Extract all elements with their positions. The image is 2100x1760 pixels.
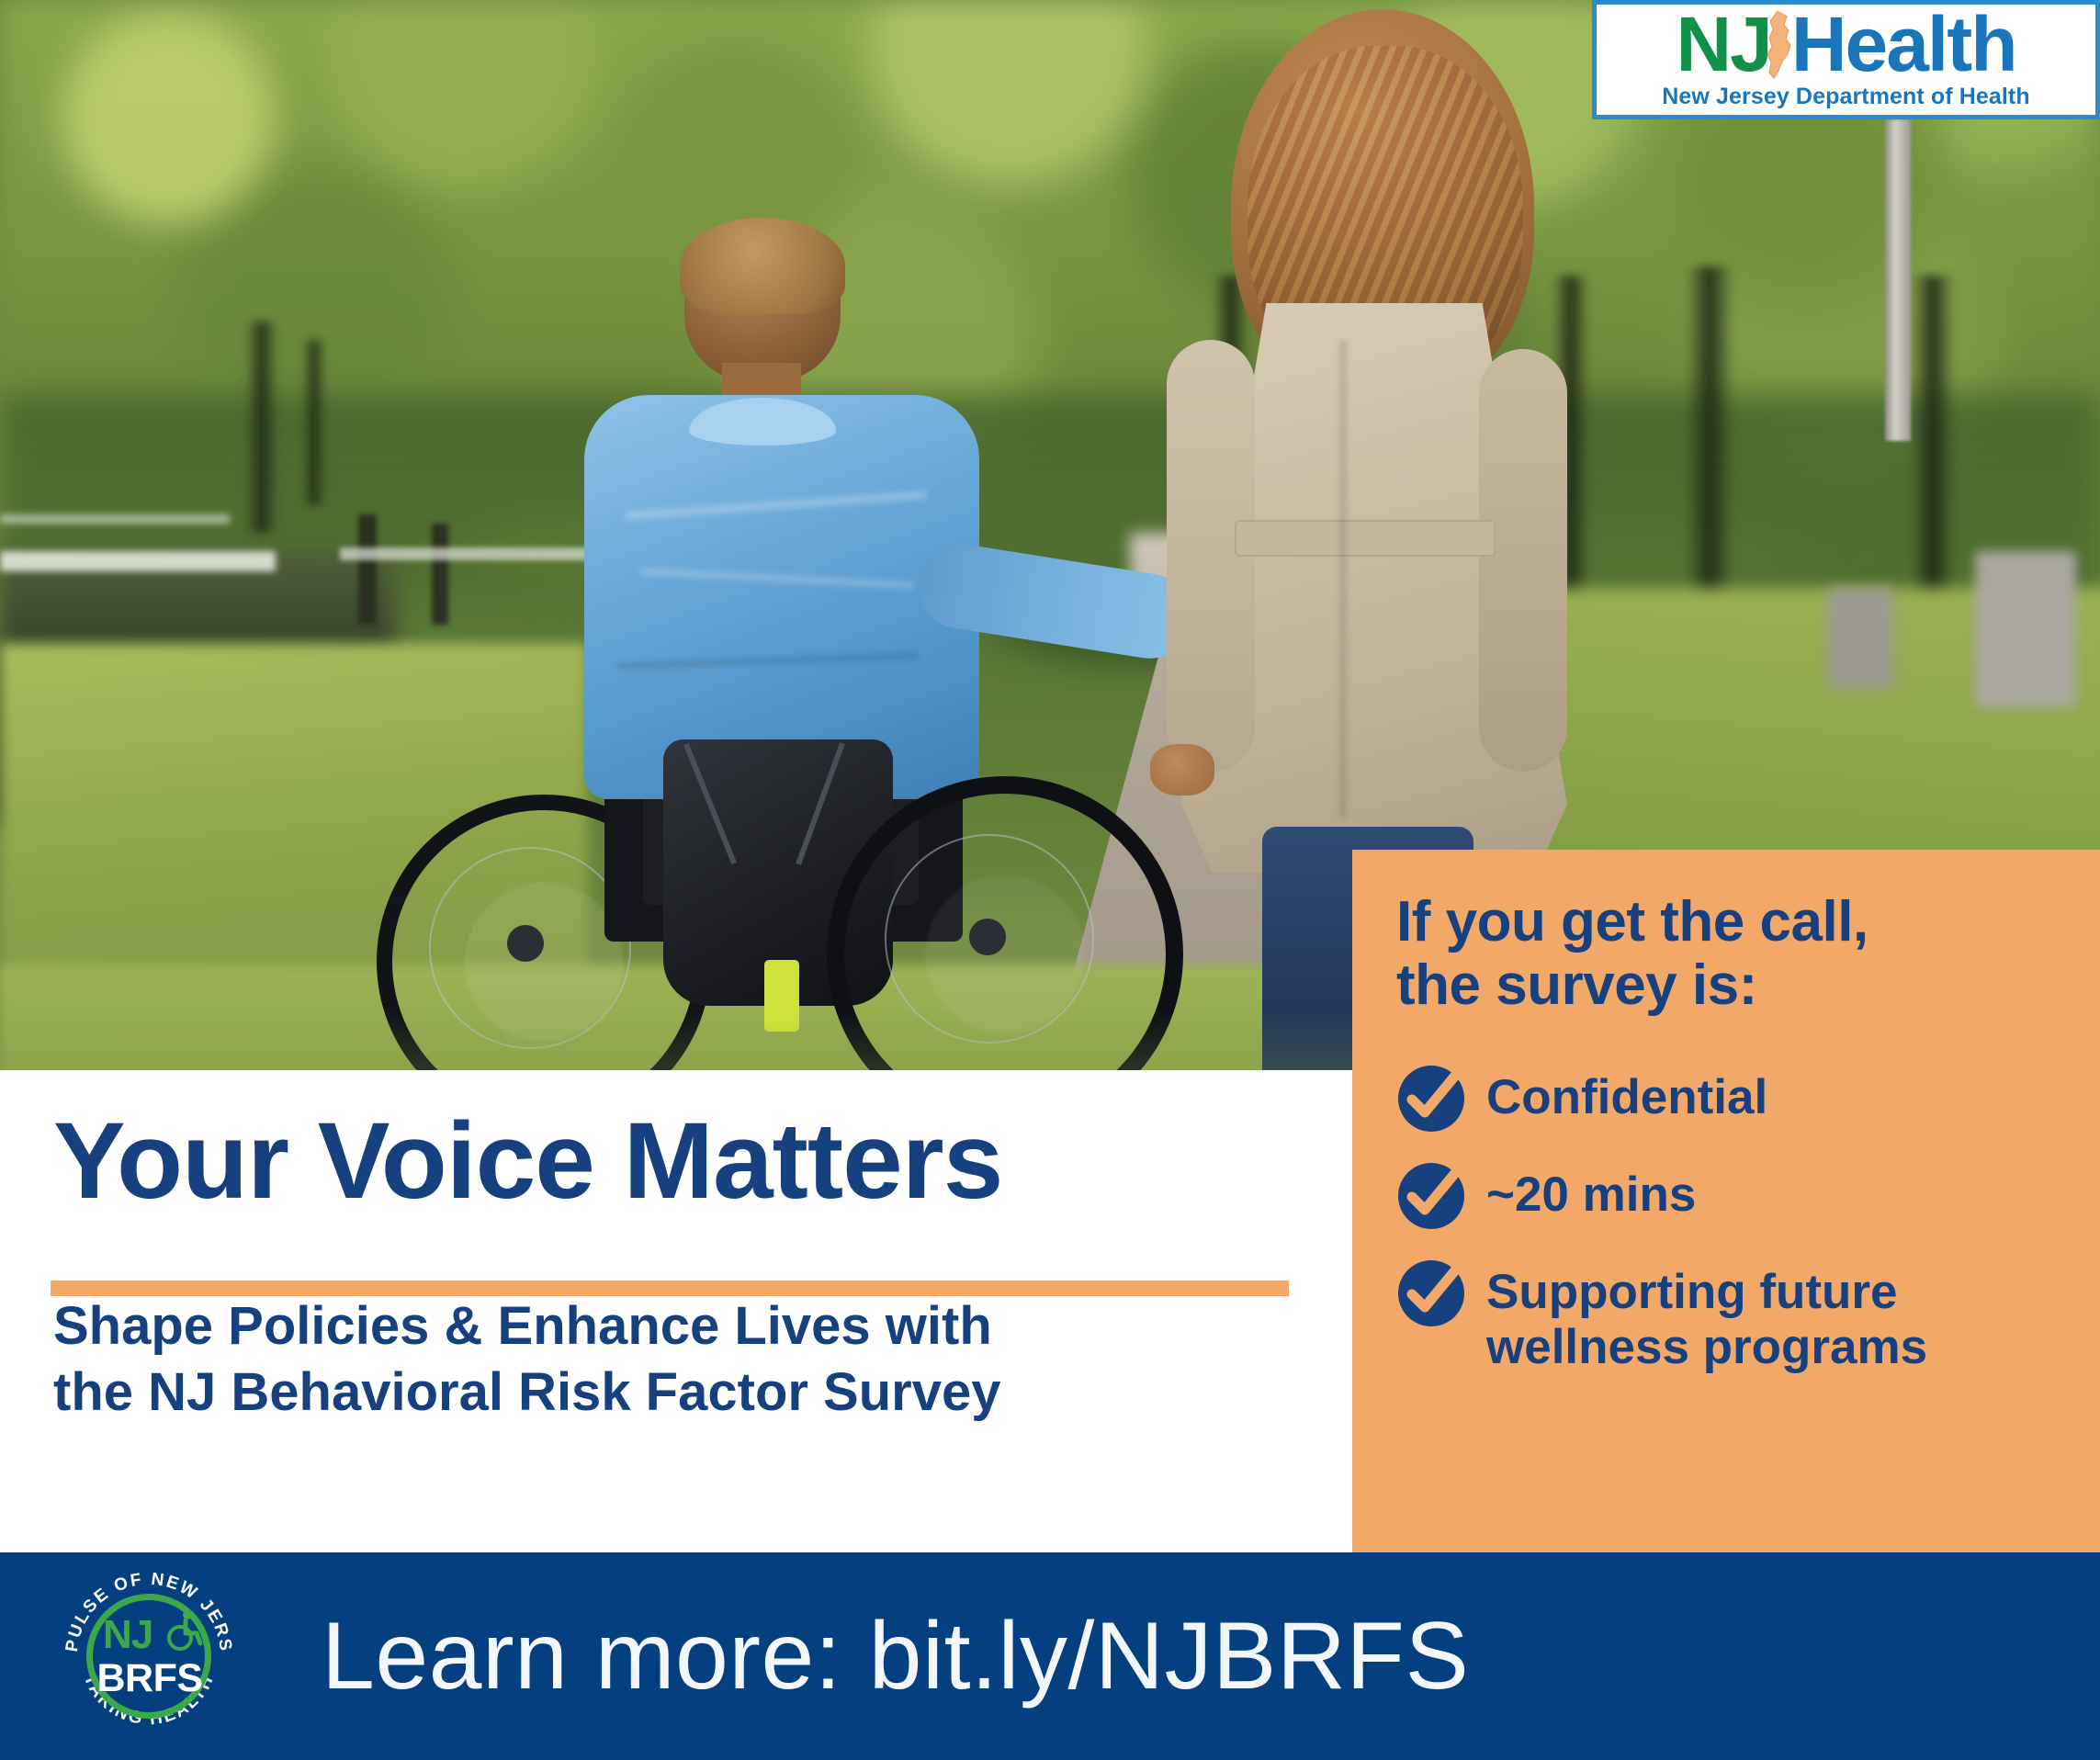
- nj-health-logo: NJ Health New Jersey Department of Healt…: [1592, 0, 2100, 119]
- check-circle-icon: [1396, 1064, 1466, 1134]
- survey-benefits-list: Confidential ~20 mins: [1396, 1064, 2076, 1376]
- man-hair: [680, 218, 845, 314]
- subtitle: Shape Policies & Enhance Lives with the …: [53, 1293, 1275, 1426]
- nj-logo-nj-text: NJ: [1676, 11, 1770, 77]
- bridge-rail: [0, 551, 276, 571]
- survey-info-title-line-2: the survey is:: [1396, 953, 2076, 1017]
- stone-marker: [1975, 551, 2076, 707]
- tree-trunk: [246, 322, 277, 533]
- njbrfs-seal-logo: THE PULSE OF NEW JERSEY'S TAKING HEALTH …: [57, 1564, 241, 1748]
- fence-post: [358, 514, 377, 625]
- fence-post: [432, 524, 448, 625]
- headline-panel: Your Voice Matters Shape Policies & Enha…: [0, 1070, 1352, 1552]
- new-jersey-state-shape-icon: [1760, 10, 1799, 80]
- poster-canvas: NJ Health New Jersey Department of Healt…: [0, 0, 2100, 1760]
- woman-arm-right: [1479, 349, 1567, 772]
- subtitle-line-2: the NJ Behavioral Risk Factor Survey: [53, 1359, 1275, 1426]
- page-title: Your Voice Matters: [53, 1107, 1002, 1215]
- check-circle-icon: [1396, 1258, 1466, 1328]
- list-item-label: ~20 mins: [1486, 1161, 1696, 1223]
- wheelchair-icon: [165, 1608, 208, 1651]
- survey-info-title: If you get the call, the survey is:: [1396, 890, 2076, 1018]
- subtitle-line-1: Shape Policies & Enhance Lives with: [53, 1293, 1275, 1359]
- coat-belt: [1235, 520, 1496, 557]
- seal-nj-text: NJ: [103, 1612, 152, 1658]
- orange-divider: [51, 1281, 1289, 1296]
- list-item-label: Supporting future wellness programs: [1486, 1258, 2076, 1376]
- learn-more-link[interactable]: Learn more: bit.ly/NJBRFS: [322, 1602, 1469, 1711]
- seal-acronym: BRFS: [90, 1656, 209, 1701]
- stone-marker: [1828, 588, 1892, 689]
- list-item: Confidential: [1396, 1064, 2076, 1134]
- list-item-label: Confidential: [1486, 1064, 1767, 1125]
- survey-info-panel: If you get the call, the survey is: Conf…: [1352, 850, 2100, 1552]
- nj-logo-subtitle: New Jersey Department of Health: [1662, 84, 2029, 110]
- coat-fold: [1339, 340, 1347, 818]
- list-item: ~20 mins: [1396, 1161, 2076, 1231]
- man-in-wheelchair: [551, 225, 1066, 1052]
- survey-info-title-line-1: If you get the call,: [1396, 890, 2076, 953]
- woman-hand: [1150, 744, 1214, 795]
- nj-logo-health-text: Health: [1791, 11, 2016, 77]
- sign-pole: [1885, 119, 1911, 441]
- footer-bar: THE PULSE OF NEW JERSEY'S TAKING HEALTH …: [0, 1552, 2100, 1760]
- tree-trunk: [303, 340, 325, 505]
- check-circle-icon: [1396, 1161, 1466, 1231]
- bridge-rail: [0, 514, 230, 524]
- list-item: Supporting future wellness programs: [1396, 1258, 2076, 1376]
